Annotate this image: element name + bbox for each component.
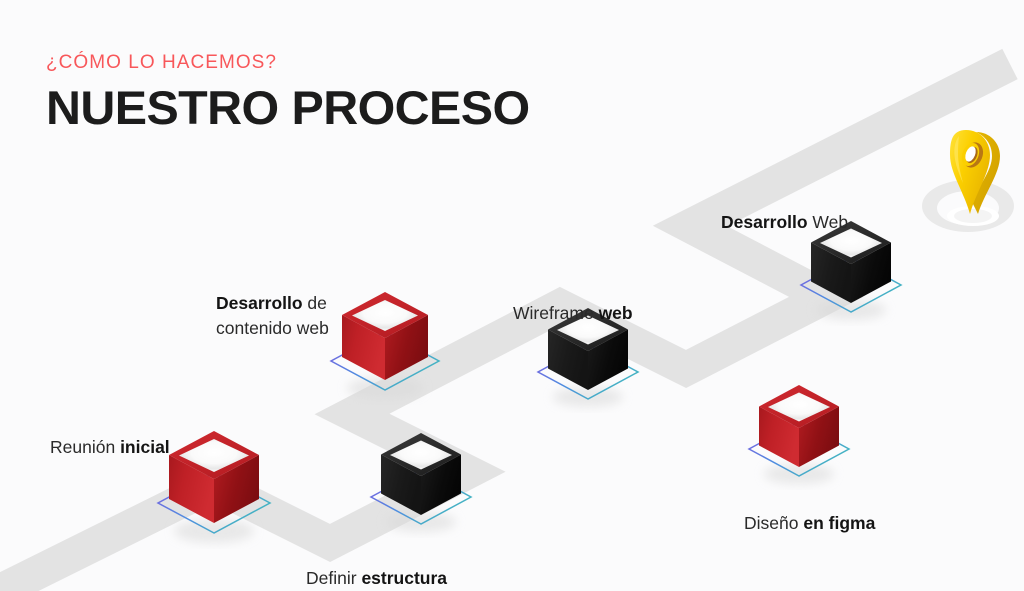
label-text-plain2: Web [808, 212, 849, 232]
label-text-bold: inicial [120, 437, 170, 457]
label-text-plain: Reunión [50, 437, 120, 457]
label-text-plain: Definir [306, 568, 361, 588]
label-text-bold: Desarrollo [216, 293, 303, 313]
label-text-bold: Desarrollo [721, 212, 808, 232]
step-label-diseno-en-figma: Diseño en figma [744, 486, 1014, 536]
cube-diseno-en-figma[interactable] [744, 380, 854, 490]
label-text-plain: Diseño [744, 513, 803, 533]
slide-eyebrow: ¿CÓMO LO HACEMOS? [46, 52, 515, 75]
step-label-definir-estructura-web: Definir estructura web [306, 541, 576, 591]
location-pin[interactable] [932, 128, 1014, 230]
step-label-reunion-inicial: Reunión inicial [50, 410, 320, 460]
heading-block: ¿CÓMO LO HACEMOS? NUESTRO PROCESO [46, 52, 515, 135]
label-text-bold: web [599, 303, 633, 323]
page-title: NUESTRO PROCESO [46, 81, 530, 135]
cube-definir-estructura-web[interactable] [366, 428, 476, 538]
label-text-plain: Wireframe [513, 303, 599, 323]
label-text-bold: en figma [803, 513, 875, 533]
location-pin-icon[interactable] [932, 128, 1014, 230]
step-label-desarrollo-contenido-web: Desarrollo de contenido web [216, 266, 486, 341]
label-text-bold: estructura [361, 568, 447, 588]
slide-canvas: ¿CÓMO LO HACEMOS? NUESTRO PROCESO [0, 0, 1024, 591]
step-label-wireframe-web: Wireframe web [513, 276, 783, 326]
